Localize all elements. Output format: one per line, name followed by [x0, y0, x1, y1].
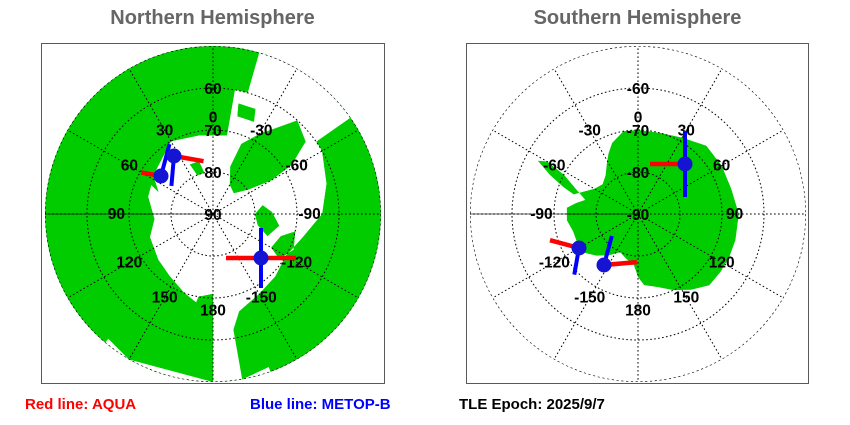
svg-text:30: 30 [156, 122, 173, 139]
svg-text:150: 150 [152, 290, 178, 307]
svg-text:60: 60 [713, 158, 730, 175]
svg-text:60: 60 [204, 81, 221, 98]
svg-text:-90: -90 [298, 206, 320, 223]
southern-hemisphere-panel: Southern Hemisphere 0306090120150180-150… [425, 0, 850, 390]
northern-hemisphere-panel: Northern Hemisphere 0306090120150180-150… [0, 0, 425, 390]
svg-text:-150: -150 [574, 290, 605, 307]
southern-plot-frame: 0306090120150180-150-120-90-60-30-90-80-… [466, 43, 809, 384]
svg-text:-80: -80 [627, 165, 649, 182]
svg-text:-70: -70 [627, 123, 649, 140]
southern-map-svg: 0306090120150180-150-120-90-60-30-90-80-… [467, 44, 808, 383]
svg-text:-30: -30 [578, 122, 600, 139]
svg-text:150: 150 [673, 290, 699, 307]
northern-plot-frame: 0306090120150180-150-120-90-60-309080706… [41, 43, 385, 384]
svg-text:-30: -30 [250, 122, 272, 139]
svg-text:180: 180 [625, 303, 651, 320]
svg-text:180: 180 [200, 303, 226, 320]
svg-text:-60: -60 [285, 158, 307, 175]
northern-map-svg: 0306090120150180-150-120-90-60-309080706… [42, 44, 384, 383]
legend-tle-epoch: TLE Epoch: 2025/9/7 [459, 396, 605, 413]
svg-text:80: 80 [204, 165, 221, 182]
svg-text:-90: -90 [627, 207, 649, 224]
svg-text:90: 90 [108, 206, 125, 223]
svg-text:-60: -60 [627, 81, 649, 98]
legend-aqua-red-line: Red line: AQUA [25, 396, 136, 413]
svg-text:-150: -150 [246, 290, 277, 307]
svg-text:70: 70 [204, 123, 221, 140]
svg-text:120: 120 [709, 254, 735, 271]
svg-text:-90: -90 [530, 206, 552, 223]
legend-metop-blue-line: Blue line: METOP-B [250, 396, 391, 413]
northern-panel-title: Northern Hemisphere [0, 7, 425, 30]
svg-text:60: 60 [121, 158, 138, 175]
southern-panel-title: Southern Hemisphere [425, 7, 850, 30]
figure-legend: Red line: AQUA Blue line: METOP-B TLE Ep… [0, 392, 850, 425]
svg-text:90: 90 [204, 207, 221, 224]
svg-text:90: 90 [726, 206, 743, 223]
svg-text:-120: -120 [539, 254, 570, 271]
svg-text:-60: -60 [543, 158, 565, 175]
polar-map-figure: Northern Hemisphere 0306090120150180-150… [0, 0, 850, 425]
svg-text:120: 120 [116, 254, 142, 271]
